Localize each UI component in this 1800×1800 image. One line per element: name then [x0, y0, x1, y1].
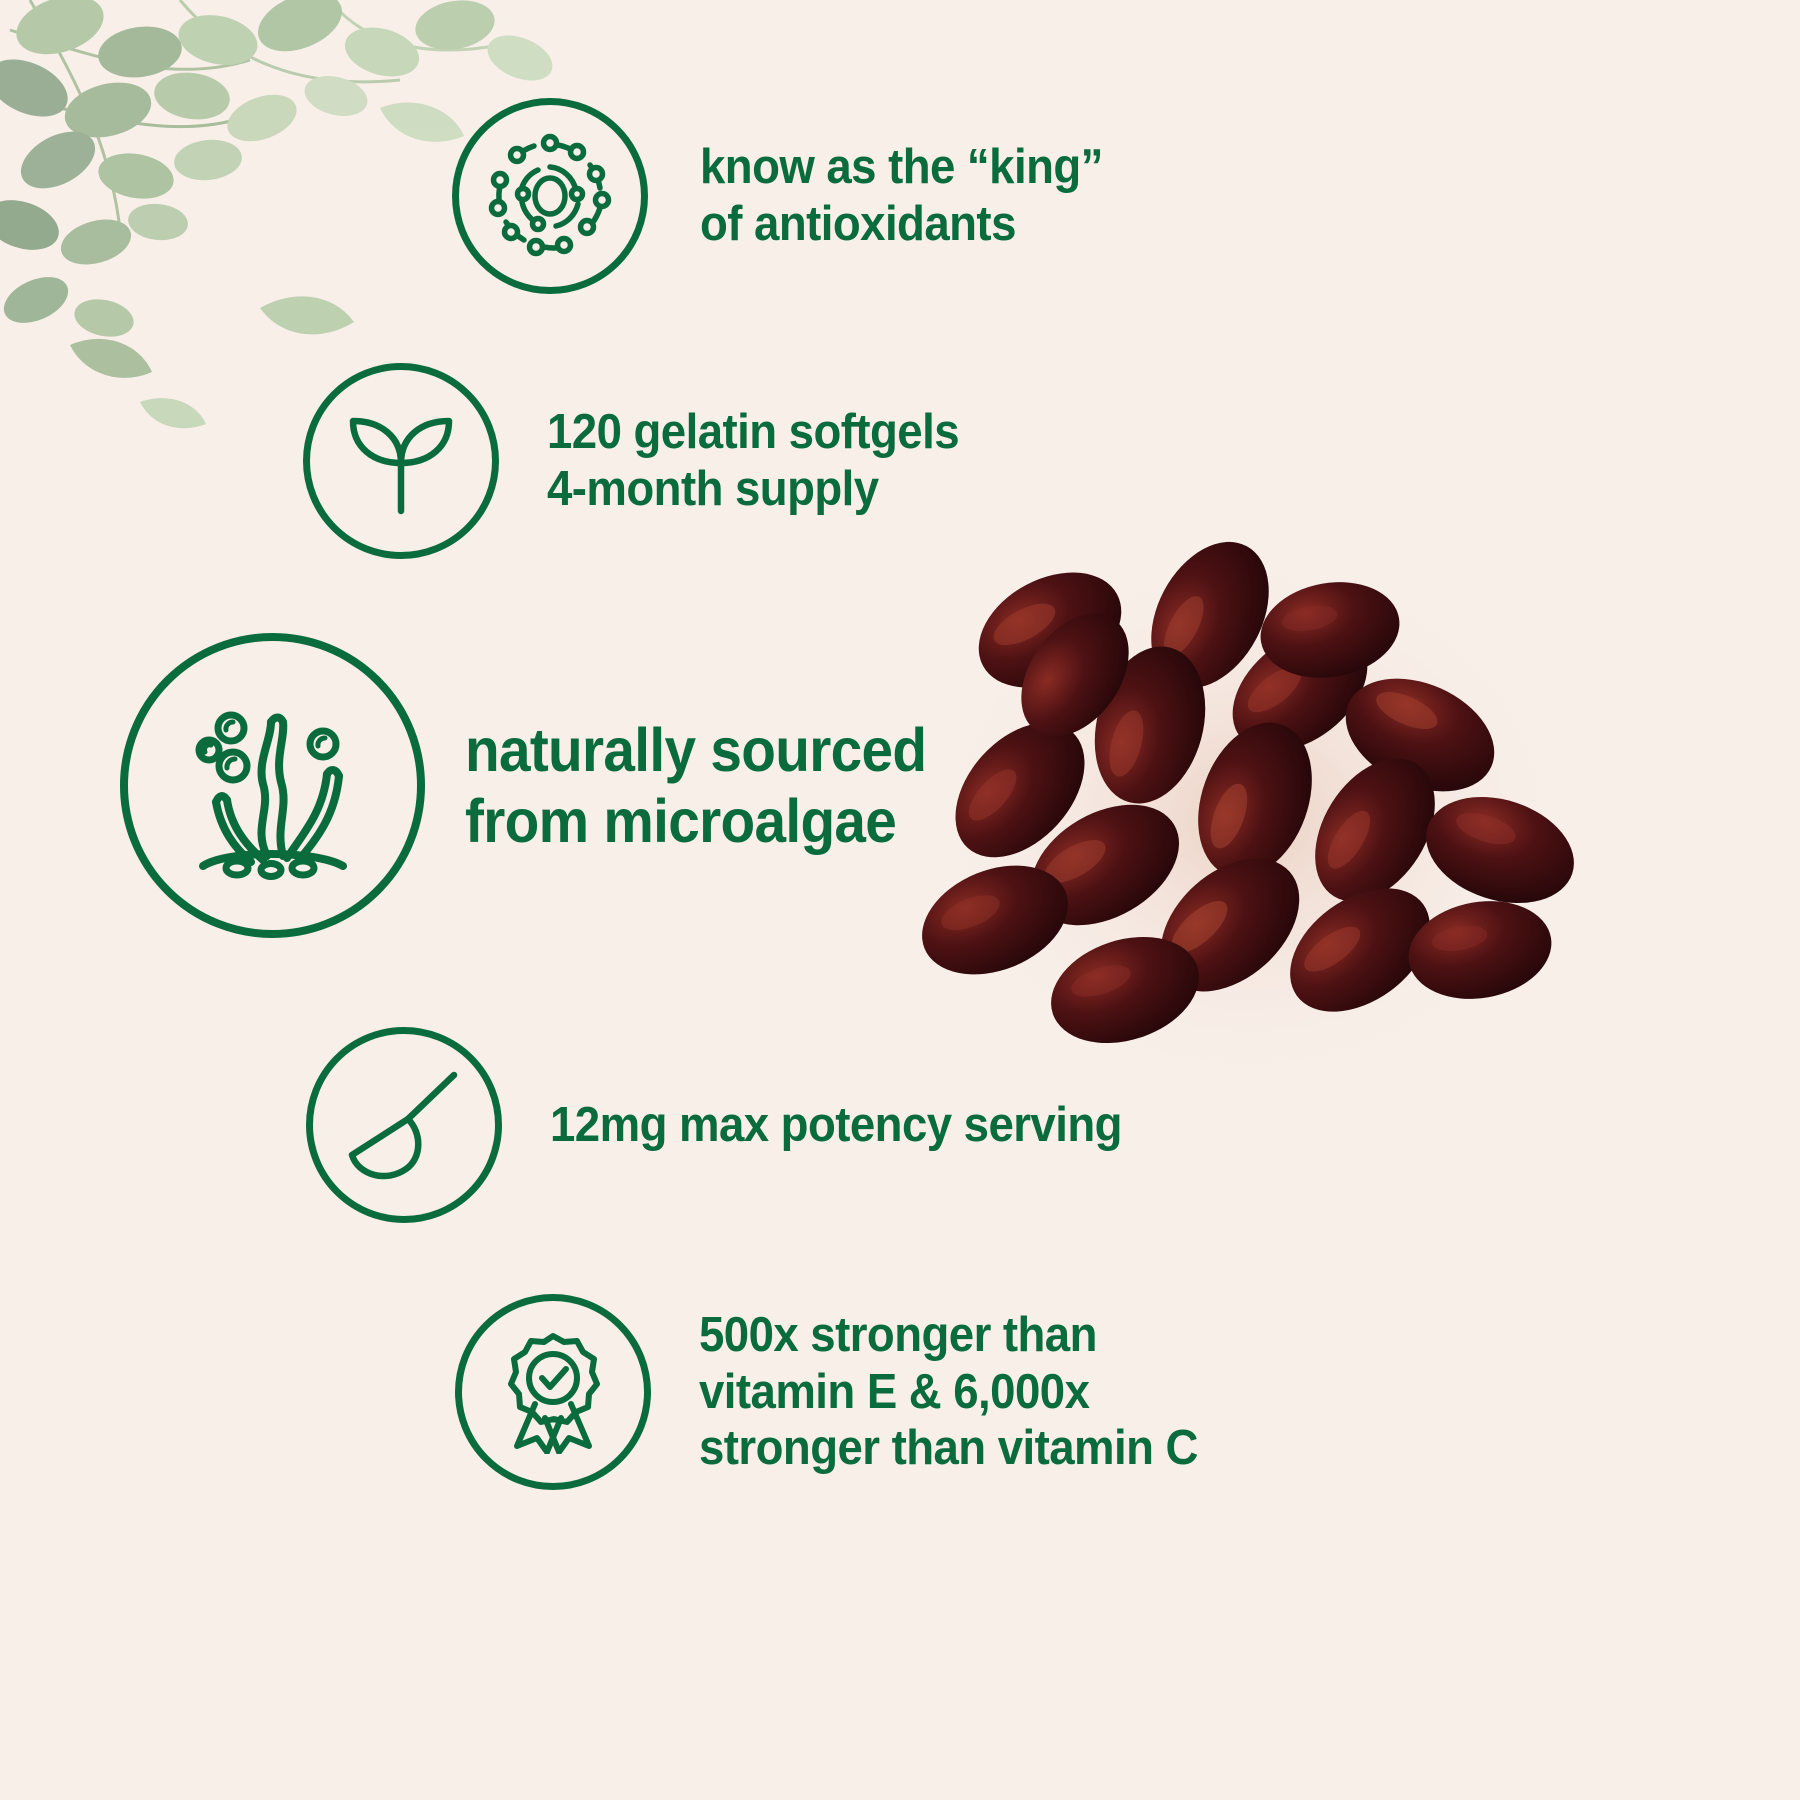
feature-label: 12mg max potency serving [550, 1097, 1122, 1154]
feature-label: 120 gelatin softgels 4-month supply [547, 404, 959, 518]
spoon-icon [306, 1027, 502, 1223]
infographic-canvas: know as the “king” of antioxidants 120 g… [0, 0, 1800, 1800]
feature-label: know as the “king” of antioxidants [700, 139, 1103, 253]
feature-row-microalgae: naturally sourced from microalgae [120, 633, 961, 938]
feature-row-potency: 12mg max potency serving [306, 1027, 1165, 1223]
sprout-leaf-icon [303, 363, 499, 559]
microalgae-seaweed-icon [120, 633, 425, 938]
feature-label: 500x stronger than vitamin E & 6,000x st… [699, 1307, 1198, 1477]
feature-row-softgels: 120 gelatin softgels 4-month supply [303, 363, 990, 559]
quality-badge-icon [455, 1294, 651, 1490]
feature-row-antioxidant: know as the “king” of antioxidants [452, 98, 1133, 294]
antioxidant-molecule-icon [452, 98, 648, 294]
feature-row-strength: 500x stronger than vitamin E & 6,000x st… [455, 1294, 1235, 1490]
feature-label: naturally sourced from microalgae [465, 715, 926, 857]
astaxanthin-softgel-capsules [900, 520, 1600, 1100]
